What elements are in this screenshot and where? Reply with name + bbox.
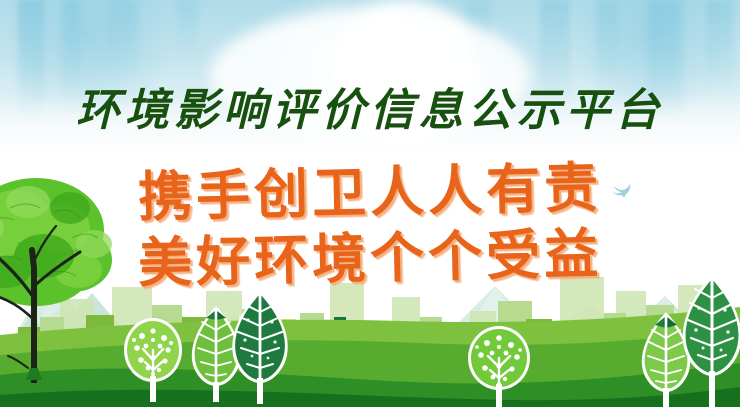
round-tree-icon [122, 316, 184, 402]
sky-streak [18, 0, 44, 120]
leaf-shaped-tree-icon [228, 290, 292, 404]
sky-streak [596, 0, 618, 88]
bird-icon [610, 182, 632, 202]
sky-highlight [330, 0, 480, 150]
environment-banner: 环境影响评价信息公示平台 携手创卫人人有责 美好环境个个受益 [0, 0, 740, 407]
sky-streak [540, 0, 570, 104]
sky-streak [648, 0, 682, 118]
sky-streak [176, 0, 198, 60]
leaf-shaped-tree-icon [678, 274, 740, 407]
sky-streak [62, 0, 80, 96]
sky-streak [108, 0, 138, 78]
sky-streak [706, 0, 734, 100]
round-tree-icon [466, 324, 532, 407]
leafy-tree-icon [0, 168, 126, 383]
